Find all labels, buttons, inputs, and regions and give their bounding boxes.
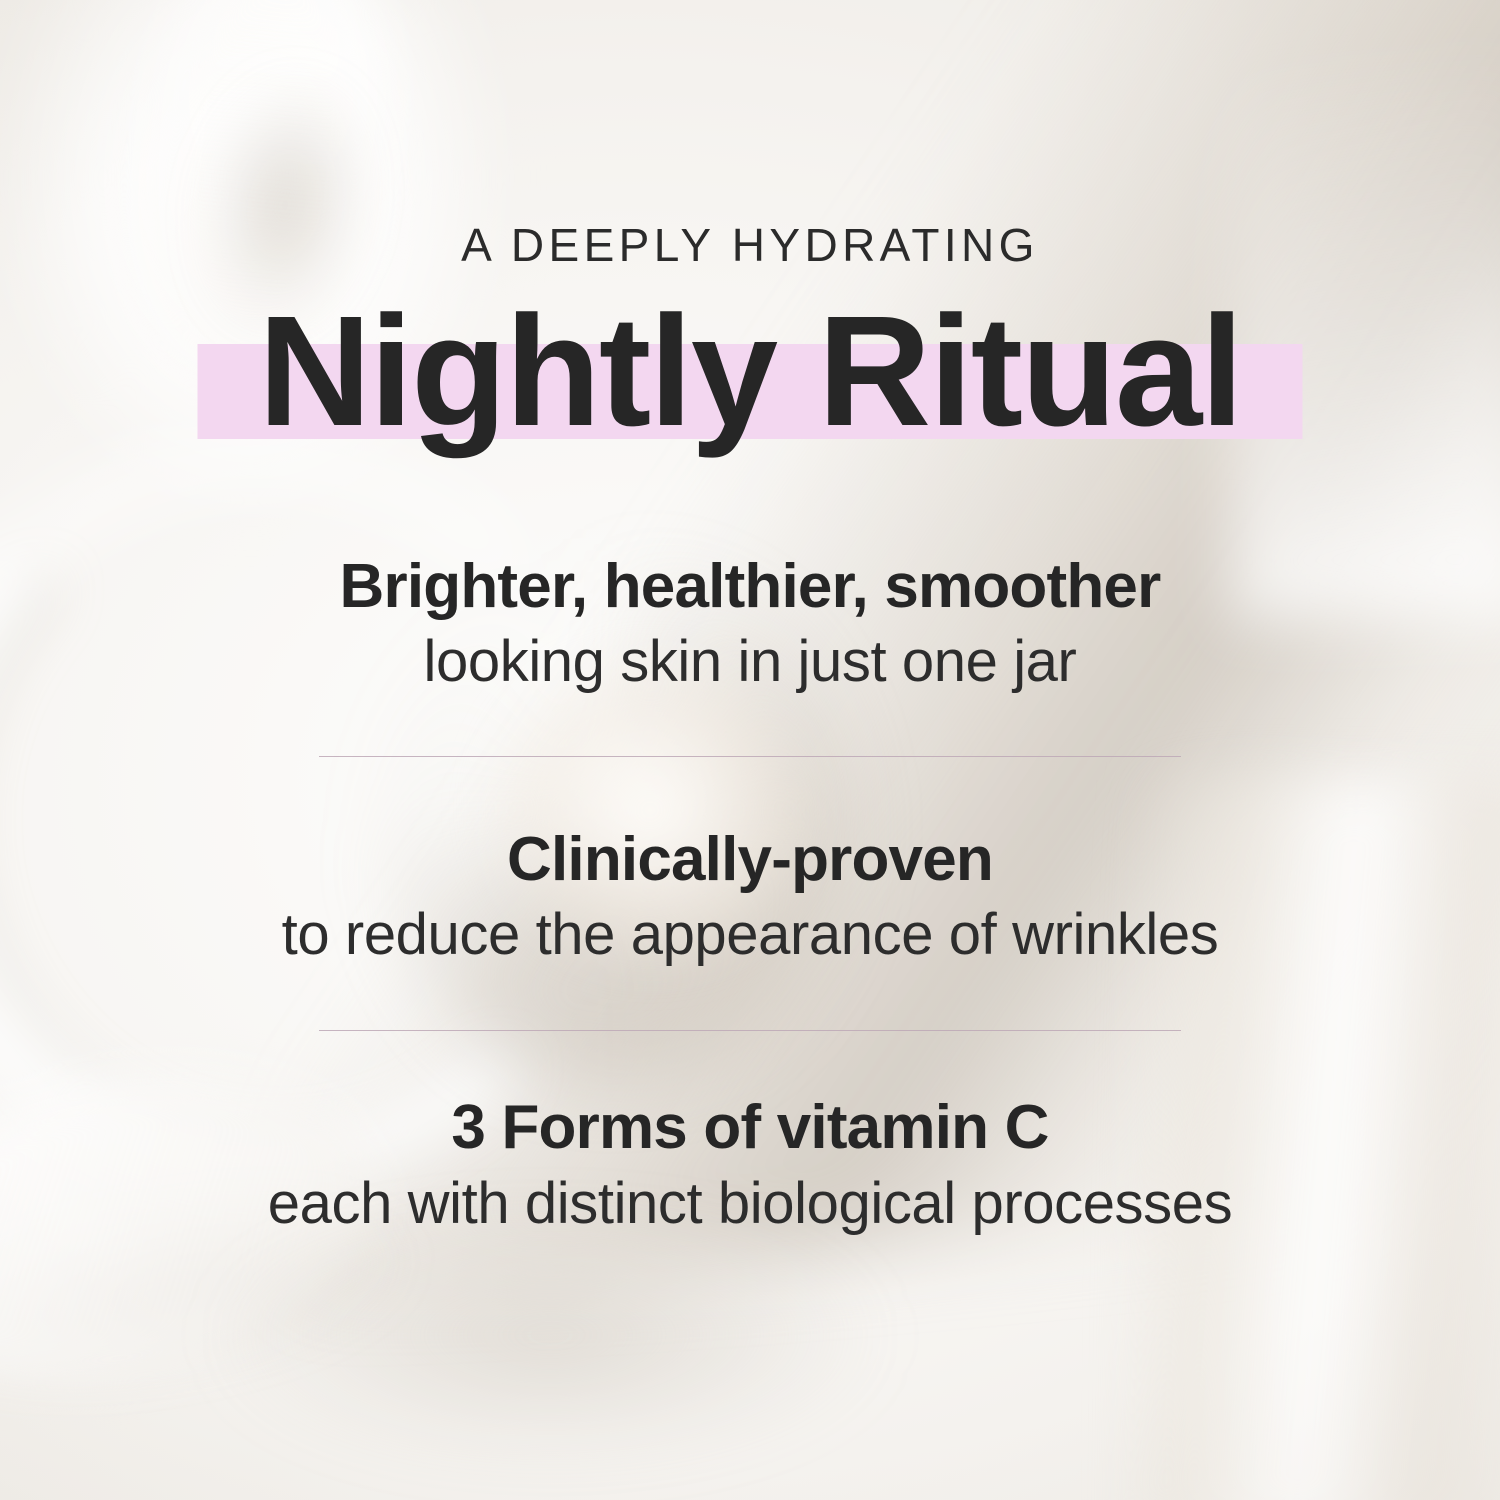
benefit-headline: Clinically-proven bbox=[507, 825, 993, 894]
benefit-item-2: Clinically-proven to reduce the appearan… bbox=[0, 825, 1500, 969]
divider-1 bbox=[319, 756, 1181, 757]
content-stack: A DEEPLY HYDRATING Nightly Ritual Bright… bbox=[0, 0, 1500, 1500]
benefit-item-3: 3 Forms of vitamin C each with distinct … bbox=[0, 1093, 1500, 1237]
eyebrow-text: A DEEPLY HYDRATING bbox=[461, 222, 1039, 268]
title-block: Nightly Ritual bbox=[258, 292, 1242, 462]
product-benefits-graphic: A DEEPLY HYDRATING Nightly Ritual Bright… bbox=[0, 0, 1500, 1500]
benefit-item-1: Brighter, healthier, smoother looking sk… bbox=[0, 552, 1500, 696]
benefit-headline: 3 Forms of vitamin C bbox=[451, 1093, 1048, 1162]
benefits-list: Brighter, healthier, smoother looking sk… bbox=[0, 552, 1500, 1237]
page-title: Nightly Ritual bbox=[258, 292, 1242, 452]
benefit-subtext: each with distinct biological processes bbox=[268, 1171, 1232, 1237]
divider-2 bbox=[319, 1030, 1181, 1031]
benefit-headline: Brighter, healthier, smoother bbox=[340, 552, 1161, 621]
benefit-subtext: looking skin in just one jar bbox=[424, 629, 1077, 695]
benefit-subtext: to reduce the appearance of wrinkles bbox=[282, 902, 1219, 968]
